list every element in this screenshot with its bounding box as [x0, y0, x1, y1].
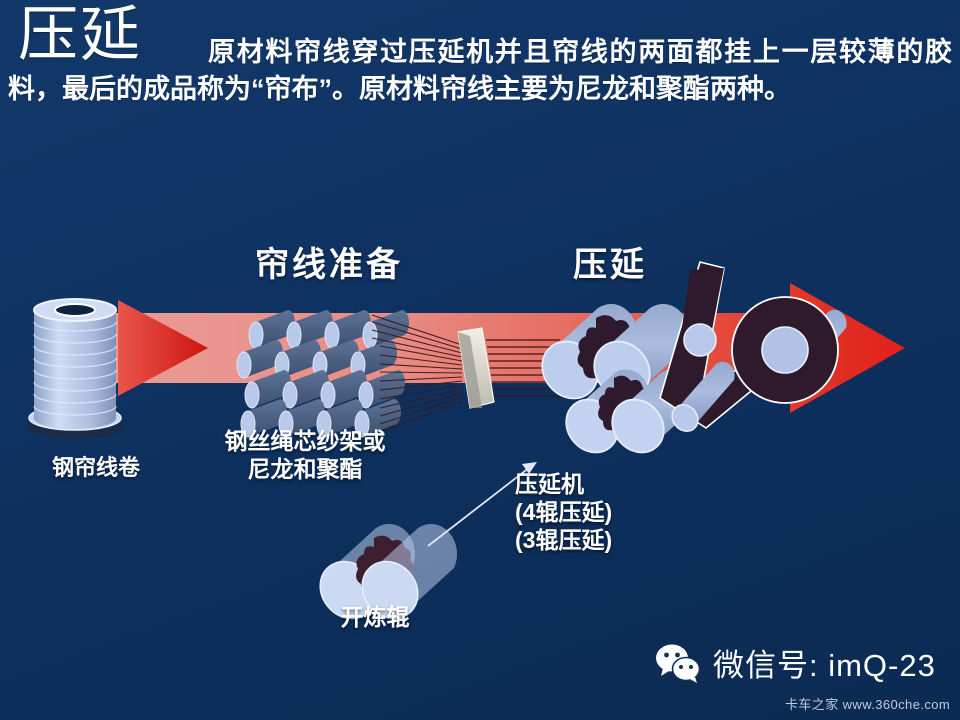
site-watermark: 卡车之家 www.360che.com — [785, 694, 950, 713]
wechat-icon — [655, 643, 701, 683]
steel-cord-spool-graphic — [27, 299, 123, 439]
label-calender: 压延机 (4辊压延) (3辊压延) — [515, 470, 725, 554]
wechat-id-text: 微信号: imQ-23 — [713, 640, 936, 685]
label-steel-cord-spool: 钢帘线卷 — [6, 455, 186, 482]
guide-roller — [684, 324, 716, 356]
wechat-watermark: 微信号: imQ-23 — [655, 640, 936, 685]
windup-roll — [732, 297, 838, 403]
slide-canvas: 压延 原材料帘线穿过压延机并且帘线的两面都挂上一层较薄的胶料，最后的成品称为“帘… — [0, 0, 960, 720]
label-open-mill: 开炼辊 — [290, 603, 460, 631]
label-creel: 钢丝绳芯纱架或 尼龙和聚酯 — [180, 427, 430, 483]
process-flow-diagram — [0, 150, 960, 670]
header-block: 压延 原材料帘线穿过压延机并且帘线的两面都挂上一层较薄的胶料，最后的成品称为“帘… — [0, 0, 960, 150]
body-paragraph: 原材料帘线穿过压延机并且帘线的两面都挂上一层较薄的胶料，最后的成品称为“帘布”。… — [8, 34, 952, 108]
